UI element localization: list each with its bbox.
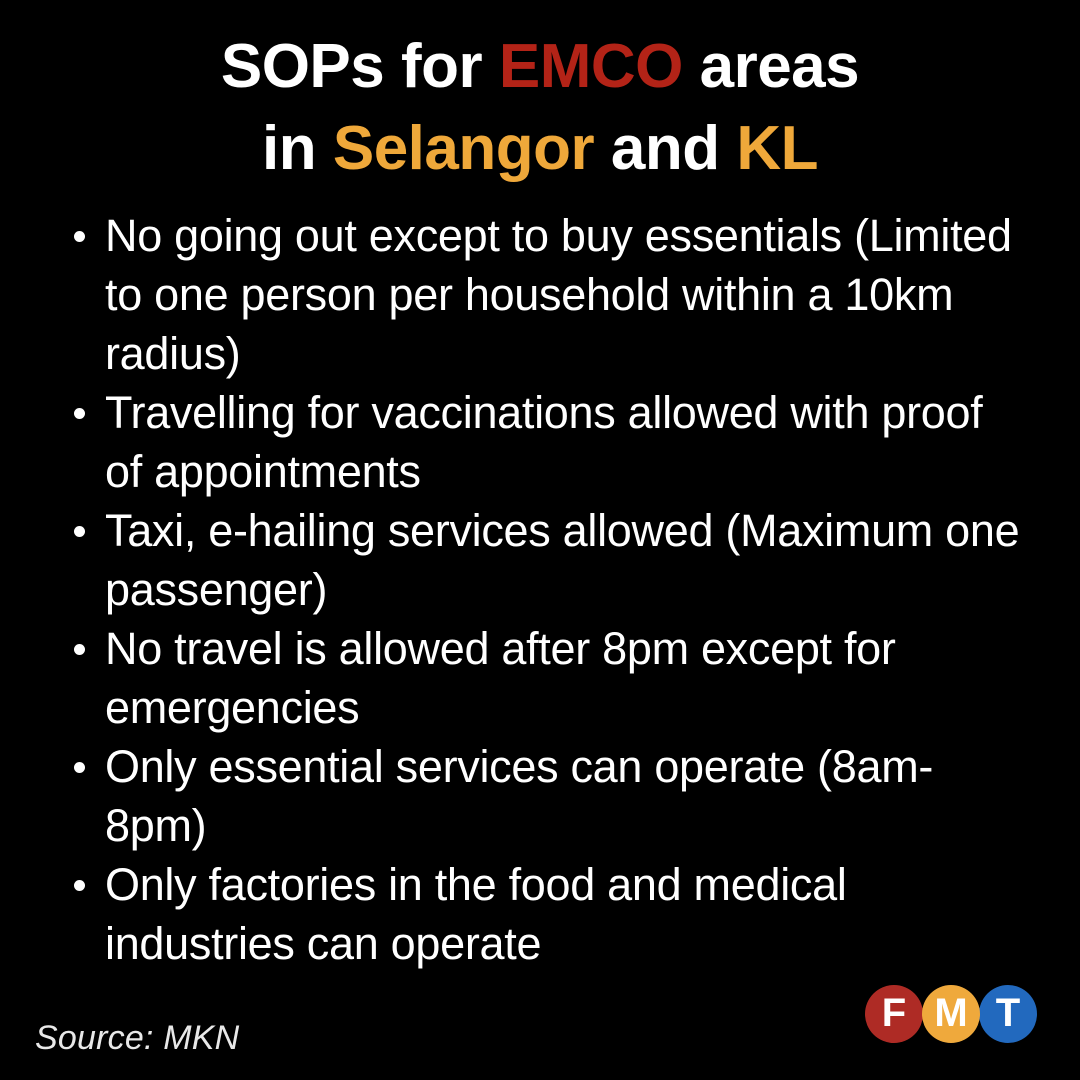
logo-circle-t: T bbox=[979, 985, 1037, 1043]
logo-letter-f: F bbox=[882, 993, 906, 1033]
list-item-label: Only essential services can operate (8am… bbox=[105, 737, 1020, 855]
list-item: Taxi, e-hailing services allowed (Maximu… bbox=[60, 501, 1020, 619]
logo-letter-m: M bbox=[934, 993, 967, 1033]
title-line-2: in Selangor and KL bbox=[0, 108, 1080, 190]
title-highlight-kl: KL bbox=[736, 114, 818, 183]
bullet-dot-icon bbox=[74, 231, 85, 242]
logo-circle-f: F bbox=[865, 985, 923, 1043]
bullet-dot-icon bbox=[74, 880, 85, 891]
list-item: Only essential services can operate (8am… bbox=[60, 737, 1020, 855]
bullet-dot-icon bbox=[74, 762, 85, 773]
page-title: SOPs for EMCO areas in Selangor and KL bbox=[0, 26, 1080, 190]
logo-letter-t: T bbox=[996, 993, 1020, 1033]
list-item-label: Travelling for vaccinations allowed with… bbox=[105, 383, 1020, 501]
list-item-label: No going out except to buy essentials (L… bbox=[105, 206, 1020, 383]
bullet-dot-icon bbox=[74, 408, 85, 419]
bullet-dot-icon bbox=[74, 644, 85, 655]
fmt-logo: F M T bbox=[865, 975, 1045, 1053]
bullet-dot-icon bbox=[74, 526, 85, 537]
title-highlight-selangor: Selangor bbox=[333, 114, 594, 183]
title-text-and: and bbox=[594, 114, 736, 183]
logo-circle-m: M bbox=[922, 985, 980, 1043]
list-item-label: No travel is allowed after 8pm except fo… bbox=[105, 619, 1020, 737]
list-item: No going out except to buy essentials (L… bbox=[60, 206, 1020, 383]
title-text-in: in bbox=[262, 114, 333, 183]
list-item-label: Taxi, e-hailing services allowed (Maximu… bbox=[105, 501, 1020, 619]
infographic-poster: SOPs for EMCO areas in Selangor and KL N… bbox=[0, 0, 1080, 1080]
title-highlight-emco: EMCO bbox=[499, 32, 683, 101]
list-item: No travel is allowed after 8pm except fo… bbox=[60, 619, 1020, 737]
title-text-sops-for: SOPs for bbox=[221, 32, 499, 101]
sop-bullet-list: No going out except to buy essentials (L… bbox=[60, 206, 1020, 973]
title-text-areas: areas bbox=[683, 32, 859, 101]
list-item: Only factories in the food and medical i… bbox=[60, 855, 1020, 973]
source-attribution: Source: MKN bbox=[35, 1018, 239, 1058]
title-line-1: SOPs for EMCO areas bbox=[0, 26, 1080, 108]
list-item-label: Only factories in the food and medical i… bbox=[105, 855, 1020, 973]
list-item: Travelling for vaccinations allowed with… bbox=[60, 383, 1020, 501]
